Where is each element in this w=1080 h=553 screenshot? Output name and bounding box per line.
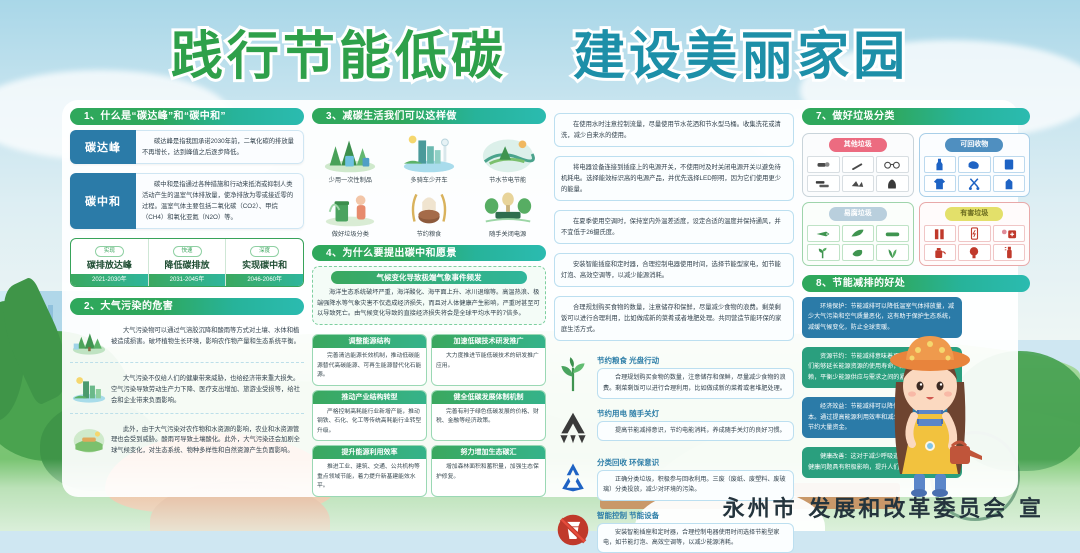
recycle-arrow-icon: [554, 408, 592, 448]
measures-grid: 调整能源结构 完善清洁能源长效机制，推动低碳能源替代高碳能源、可再生能源替代化石…: [312, 334, 546, 497]
action-item: 随手关闭电源: [469, 186, 546, 238]
household-tip: 合理规划购买食物的数量，注意储存和保鲜，尽量减少食物的浪费。剩菜剩饭可以进行合理…: [554, 296, 794, 341]
grain-sprout-icon: [554, 355, 592, 395]
measure-title: 调整能源结构: [313, 335, 426, 348]
harm-text: 大气污染物可以通过气溶胶沉降和酸雨等方式对土壤、水体和植被造成损害。破坏植物生长…: [111, 326, 302, 348]
column-1: 1、什么是“碳达峰”和“碳中和” 碳达峰 碳达峰是指我国承诺2030年前，二氧化…: [70, 108, 304, 497]
lifestyle-title: 分类回收 环保意识: [597, 457, 794, 468]
girl-illustration: [870, 324, 990, 499]
lifestyle-title: 节约粮食 光盘行动: [597, 355, 794, 366]
section-8-header: 8、节能减排的好处: [802, 275, 1030, 292]
waste-icon-grid: [924, 225, 1026, 261]
waste-group-recyclable: 可回收物: [919, 133, 1031, 197]
lifestyle-body: 节约用电 随手关灯 提高节能减排意识，节约电能消耗，养成随手关灯的良好习惯。: [597, 408, 794, 441]
lifestyle-item: 节约粮食 光盘行动 合理规划购买食物的数量，注意储存和保鲜，尽量减少食物的浪费。…: [554, 355, 794, 399]
measure-text: 完善有利于绿色低碳发展的价格、财税、金融等经济政策。: [432, 404, 545, 431]
farmland-pollution-illustration: [72, 425, 106, 455]
title-part-2: 建设美丽家园: [573, 27, 909, 87]
timeline-item: 深度 实现碳中和 2046-2060年: [226, 239, 303, 286]
paper-stack-icon: [993, 156, 1026, 173]
save-food-illustration: [391, 186, 468, 228]
measure-card: 努力增加生态碳汇 增加森林面积和蓄积量，加强生态保护修复。: [431, 445, 546, 497]
disposable-products-illustration: [312, 132, 389, 174]
forest-pollution-illustration: [72, 326, 106, 356]
household-tip: 将电器设备连接到插座上的电源开关，不使用时及时关闭电源开关以避免待机耗电。选择能…: [554, 156, 794, 201]
measure-title: 推动产业结构转型: [313, 391, 426, 404]
low-carbon-actions-grid: 少用一次性制品 多骑车少开车: [312, 129, 546, 240]
plastic-bag-icon: [958, 156, 991, 173]
household-tip: 安装智能插座和定时器，合理控制电器使用时间，选择节能型家电，如节能灯泡、高效空调…: [554, 253, 794, 287]
column-4: 7、做好垃圾分类 其他垃圾 可回收物: [802, 108, 1030, 497]
spray-can-icon: [993, 244, 1026, 261]
milk-carton-icon: [993, 175, 1026, 192]
definition-row-carbon-neutral: 碳中和 碳中和是指通过各种措施和行动来抵消或抑制人类活动产生的温室气体排放量，使…: [70, 173, 304, 229]
definition-text: 碳中和是指通过各种措施和行动来抵消或抑制人类活动产生的温室气体排放量，使净排放为…: [136, 173, 304, 229]
timeline-year: 2021-2030年: [71, 274, 148, 286]
harm-text: 大气污染不仅给人们的健康带来威胁，也给经济带来重大损失。空气污染导致劳动生产力下…: [111, 374, 302, 406]
action-item: 多骑车少开车: [391, 132, 468, 184]
definition-key: 碳中和: [70, 173, 136, 229]
waste-group-label: 有害垃圾: [945, 207, 1003, 221]
glasses-icon: [876, 156, 909, 173]
section-1-header: 1、什么是“碳达峰”和“碳中和”: [70, 108, 304, 125]
save-water-power-illustration: [469, 132, 546, 174]
climate-warning-title: 气候变化导致极端气象事件频发: [331, 271, 527, 284]
action-label: 做好垃圾分类: [312, 229, 389, 238]
climate-warning-text: 海洋生态系统破坏严重，海洋酸化、海平面上升、冰川退缩等。高温热浪、极端强降水等气…: [317, 288, 541, 320]
household-tip: 在夏季使用空调时，保持室内外温差适度，设定合适的温度并保持通风，并不宜低于26摄…: [554, 210, 794, 244]
waste-sorting-illustration: [312, 186, 389, 228]
greens-icon: [876, 244, 909, 261]
section-4-header: 4、为什么要提出碳中和愿景: [312, 245, 546, 261]
measure-text: 大力度推进节能低碳技术的研发推广应用。: [432, 348, 545, 375]
measure-title: 提升能源利用效率: [313, 446, 426, 459]
column-3: 5、家庭生活节能小常识 在使用水时注意控制流量，尽量使用节水花洒和节水型马桶。收…: [554, 108, 794, 497]
no-waste-icon: [554, 510, 592, 550]
carbon-timeline: 实现 碳排放达峰 2021-2030年 快速 降低碳排放 2031-2045年 …: [70, 238, 304, 287]
waste-group-hazardous: 有害垃圾: [919, 202, 1031, 266]
action-item: 做好垃圾分类: [312, 186, 389, 238]
column-2: 3、减碳生活我们可以这样做 少用一次性制品: [312, 108, 546, 497]
timeline-year: 2046-2060年: [226, 274, 303, 286]
timeline-label: 实现碳中和: [226, 258, 303, 274]
section-3-header: 3、减碳生活我们可以这样做: [312, 108, 546, 124]
harm-item: 大气污染物可以通过气溶胶沉降和酸雨等方式对土壤、水体和植被造成损害。破坏植物生长…: [70, 320, 304, 363]
action-label: 节约粮食: [391, 229, 468, 238]
waste-icon-grid: [924, 156, 1026, 192]
action-item: 节约粮食: [391, 186, 468, 238]
climate-warning-box: 气候变化导致极端气象事件频发 海洋生态系统破坏严重，海洋酸化、海平面上升、冰川退…: [312, 266, 546, 325]
measure-title: 健全低碳发展体制机制: [432, 391, 545, 404]
broken-brick-icon: [807, 175, 840, 192]
light-bulb-icon: [958, 244, 991, 261]
lifestyle-text: 提高节能减排意识，节约电能消耗，养成随手关灯的良好习惯。: [597, 421, 794, 441]
definition-key: 碳达峰: [70, 130, 136, 164]
section-7-header: 7、做好垃圾分类: [802, 108, 1030, 125]
timeline-year: 2031-2045年: [149, 274, 226, 286]
paint-can-icon: [924, 244, 957, 261]
timeline-item: 实现 碳排放达峰 2021-2030年: [71, 239, 149, 286]
city-pollution-illustration: [72, 374, 106, 404]
waste-group-kitchen: 易腐垃圾: [802, 202, 914, 266]
measure-text: 完善清洁能源长效机制，推动低碳能源替代高碳能源、可再生能源替代化石能源。: [313, 348, 426, 385]
timeline-badge: 实现: [95, 246, 124, 257]
waste-group-label: 可回收物: [945, 138, 1003, 152]
toothbrush-icon: [842, 156, 875, 173]
vegetable-icon: [842, 244, 875, 261]
glass-bottle-icon: [924, 156, 957, 173]
battery-icon: [924, 225, 957, 242]
definition-row-carbon-peak: 碳达峰 碳达峰是指我国承诺2030年前，二氧化碳的排放量不再增长，达到峰值之后逐…: [70, 130, 304, 164]
action-item: 节水节电节能: [469, 132, 546, 184]
recycle-triangle-icon: [554, 457, 592, 497]
medicine-icon: [993, 225, 1026, 242]
measure-card: 健全低碳发展体制机制 完善有利于绿色低碳发展的价格、财税、金融等经济政策。: [431, 390, 546, 442]
lifestyle-text: 安装智能插座和定时器，合理控制电器使用时间选择节能型家电，如节能灯泡、高效空调等…: [597, 523, 794, 553]
household-tip: 在使用水时注意控制流量，尽量使用节水花洒和节水型马桶。收集洗花或清洗，减少自来水…: [554, 113, 794, 147]
measure-card: 提升能源利用效率 推进工业、建筑、交通、公共机构等重点领域节能，着力提升新基建能…: [312, 445, 427, 497]
scissors-icon: [958, 175, 991, 192]
title-part-1: 践行节能低碳: [171, 27, 507, 87]
cigarette-butt-icon: [807, 156, 840, 173]
measure-title: 努力增加生态碳汇: [432, 446, 545, 459]
measure-card: 推动产业结构转型 严格控制高耗能行业新增产能，推动钢铁、石化、化工等传统高耗能行…: [312, 390, 427, 442]
waste-icon-grid: [807, 225, 909, 261]
garbage-bag-icon: [876, 175, 909, 192]
waste-group-label: 其他垃圾: [829, 138, 887, 152]
harm-text: 此外，由于大气污染对农作物和水资源的影响，农业和水资源管理也会受到威胁。酸雨可导…: [111, 425, 302, 457]
lifestyle-text: 合理规划购买食物的数量，注意储存和保鲜，尽量减少食物的浪费。剩菜剩饭可以进行合理…: [597, 368, 794, 399]
lifestyle-body: 节约粮食 光盘行动 合理规划购买食物的数量，注意储存和保鲜，尽量减少食物的浪费。…: [597, 355, 794, 399]
timeline-badge: 深度: [250, 246, 279, 257]
action-item: 少用一次性制品: [312, 132, 389, 184]
plant-icon: [807, 244, 840, 261]
measure-text: 严格控制高耗能行业新增产能，推动钢铁、石化、化工等传统高耗能行业转型升级。: [313, 404, 426, 441]
timeline-item: 快速 降低碳排放 2031-2045年: [149, 239, 227, 286]
content-panel: 1、什么是“碳达峰”和“碳中和” 碳达峰 碳达峰是指我国承诺2030年前，二氧化…: [62, 100, 1018, 497]
waste-group-other: 其他垃圾: [802, 133, 914, 197]
lifestyle-item: 节约用电 随手关灯 提高节能减排意识，节约电能消耗，养成随手关灯的良好习惯。: [554, 408, 794, 448]
harm-item: 此外，由于大气污染对农作物和水资源的影响，农业和水资源管理也会受到威胁。酸雨可导…: [70, 419, 304, 463]
switch-off-power-illustration: [469, 186, 546, 228]
measure-text: 推进工业、建筑、交通、公共机构等重点领域节能，着力提升新基建能效水平。: [313, 459, 426, 496]
phone-icon: [958, 225, 991, 242]
public-transport-illustration: [391, 132, 468, 174]
action-label: 节水节电节能: [469, 175, 546, 184]
waste-icon-grid: [807, 156, 909, 192]
ceramic-shard-icon: [842, 175, 875, 192]
lifestyle-title: 节约用电 随手关灯: [597, 408, 794, 419]
measure-text: 增加森林面积和蓄积量，加强生态保护修复。: [432, 459, 545, 486]
timeline-badge: 快速: [173, 246, 202, 257]
bread-icon: [876, 225, 909, 242]
clothes-icon: [924, 175, 957, 192]
timeline-label: 降低碳排放: [149, 258, 226, 274]
waste-sorting-quadrants: 其他垃圾 可回收物: [802, 133, 1030, 266]
measure-card: 调整能源结构 完善清洁能源长效机制，推动低碳能源替代高碳能源、可再生能源替代化石…: [312, 334, 427, 386]
action-label: 多骑车少开车: [391, 175, 468, 184]
measure-title: 加速低碳技术研发推广: [432, 335, 545, 348]
fish-bone-icon: [807, 225, 840, 242]
definition-text: 碳达峰是指我国承诺2030年前，二氧化碳的排放量不再增长，达到峰值之后逐步降低。: [136, 130, 304, 164]
publisher-footer: 永州市 发展和改革委员会 宣: [723, 491, 1044, 523]
waste-group-label: 易腐垃圾: [829, 207, 887, 221]
vegetable-leaf-icon: [842, 225, 875, 242]
action-label: 少用一次性制品: [312, 175, 389, 184]
timeline-label: 碳排放达峰: [71, 258, 148, 274]
harm-item: 大气污染不仅给人们的健康带来威胁，也给经济带来重大损失。空气污染导致劳动生产力下…: [70, 368, 304, 413]
action-label: 随手关闭电源: [469, 229, 546, 238]
page-title: 践行节能低碳 建设美丽家园: [0, 14, 1080, 89]
measure-card: 加速低碳技术研发推广 大力度推进节能低碳技术的研发推广应用。: [431, 334, 546, 386]
section-2-header: 2、大气污染的危害: [70, 298, 304, 315]
